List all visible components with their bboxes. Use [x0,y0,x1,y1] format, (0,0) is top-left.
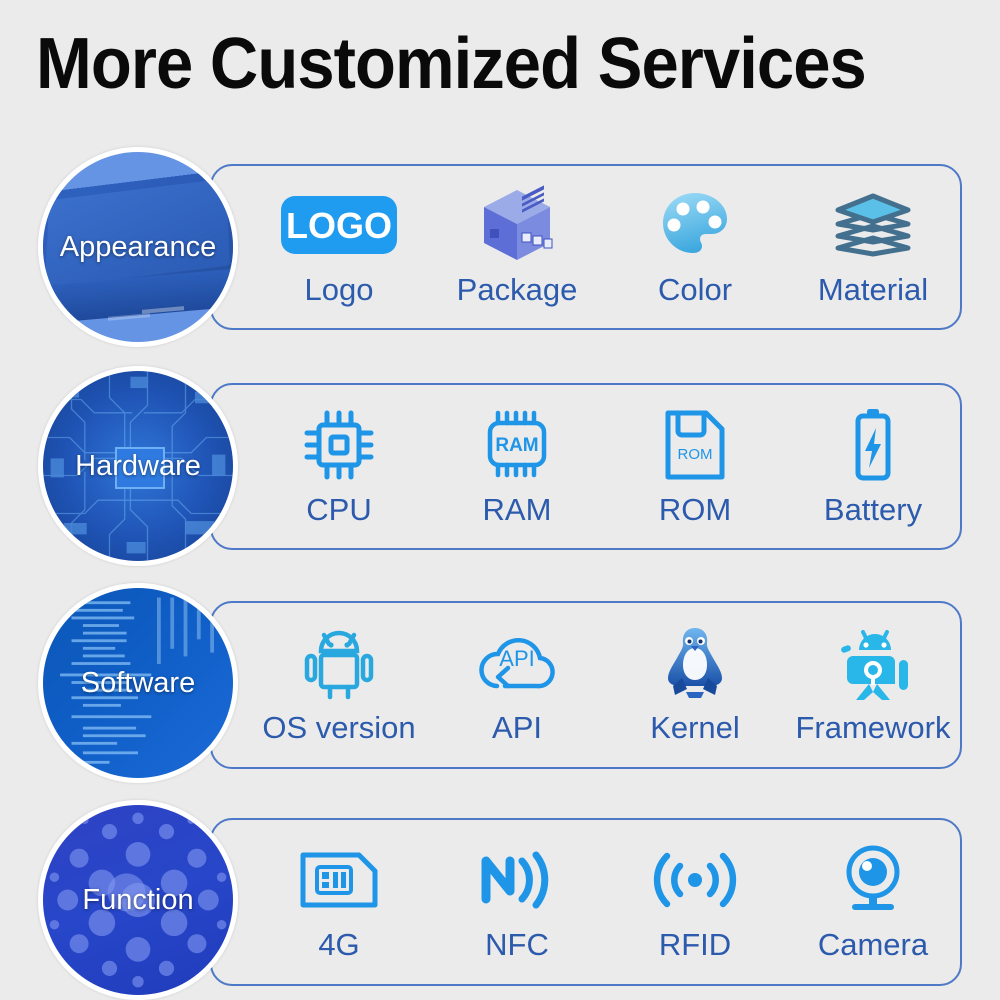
infographic-root: More Customized Services LOGO Logo [0,0,1000,1000]
category-row-hardware: CPU [0,383,1000,550]
ram-chip-text: RAM [495,435,538,456]
android-studio-icon [835,624,911,702]
item-rom[interactable]: ROM ROM [606,406,784,528]
api-cloud-text: API [499,646,534,671]
category-circle-hardware[interactable]: Hardware [38,366,238,566]
row-items: 4G NFC [250,818,962,986]
cpu-chip-icon [302,406,376,484]
item-rfid[interactable]: RFID [606,841,784,963]
battery-bolt-icon [848,406,898,484]
item-label: Framework [795,710,950,746]
item-material[interactable]: Material [784,186,962,308]
category-circle-appearance[interactable]: Appearance [38,147,238,347]
row-items: CPU [250,383,962,550]
item-cpu[interactable]: CPU [250,406,428,528]
item-kernel[interactable]: Kernel [606,624,784,746]
category-label: Appearance [60,231,216,264]
item-label: RAM [483,492,552,528]
ram-chip-icon: RAM [477,406,557,484]
category-row-function: 4G NFC [0,818,1000,986]
rfid-signal-icon [654,841,736,919]
item-logo[interactable]: LOGO Logo [250,186,428,308]
item-label: 4G [318,927,359,963]
item-label: OS version [262,710,415,746]
package-box-icon [478,186,556,264]
item-label: Logo [305,272,374,308]
item-ram[interactable]: RAM RAM [428,406,606,528]
item-camera[interactable]: Camera [784,841,962,963]
item-framework[interactable]: Framework [784,624,962,746]
item-label: Material [818,272,928,308]
item-4g[interactable]: 4G [250,841,428,963]
item-api[interactable]: API API [428,624,606,746]
category-row-appearance: LOGO Logo [0,164,1000,330]
layers-stack-icon [832,186,914,264]
rom-disk-text: ROM [678,446,713,463]
category-label: Hardware [75,450,201,483]
category-row-software: OS version API API [0,601,1000,769]
item-color[interactable]: Color [606,186,784,308]
item-label: ROM [659,492,731,528]
row-items: LOGO Logo [250,164,962,330]
category-label: Function [82,884,193,917]
webcam-icon [840,841,906,919]
item-os-version[interactable]: OS version [250,624,428,746]
linux-penguin-icon [662,624,728,702]
item-package[interactable]: Package [428,186,606,308]
android-robot-icon [303,624,375,702]
item-label: Color [658,272,732,308]
category-circle-software[interactable]: Software [38,583,238,783]
rom-disk-icon: ROM [662,406,728,484]
item-label: NFC [485,927,549,963]
sim-card-icon [297,841,381,919]
item-label: Battery [824,492,922,528]
row-items: OS version API API [250,601,962,769]
page-title: More Customized Services [36,28,910,100]
logo-badge-icon: LOGO [281,186,397,264]
category-circle-function[interactable]: Function [38,800,238,1000]
item-label: Camera [818,927,928,963]
color-palette-icon [659,186,731,264]
item-label: RFID [659,927,731,963]
item-label: API [492,710,542,746]
item-nfc[interactable]: NFC [428,841,606,963]
item-battery[interactable]: Battery [784,406,962,528]
api-cloud-icon: API [475,624,559,702]
logo-badge-text: LOGO [286,205,392,246]
item-label: Package [457,272,578,308]
category-label: Software [81,667,195,700]
item-label: Kernel [650,710,740,746]
nfc-waves-icon [478,841,556,919]
item-label: CPU [306,492,371,528]
